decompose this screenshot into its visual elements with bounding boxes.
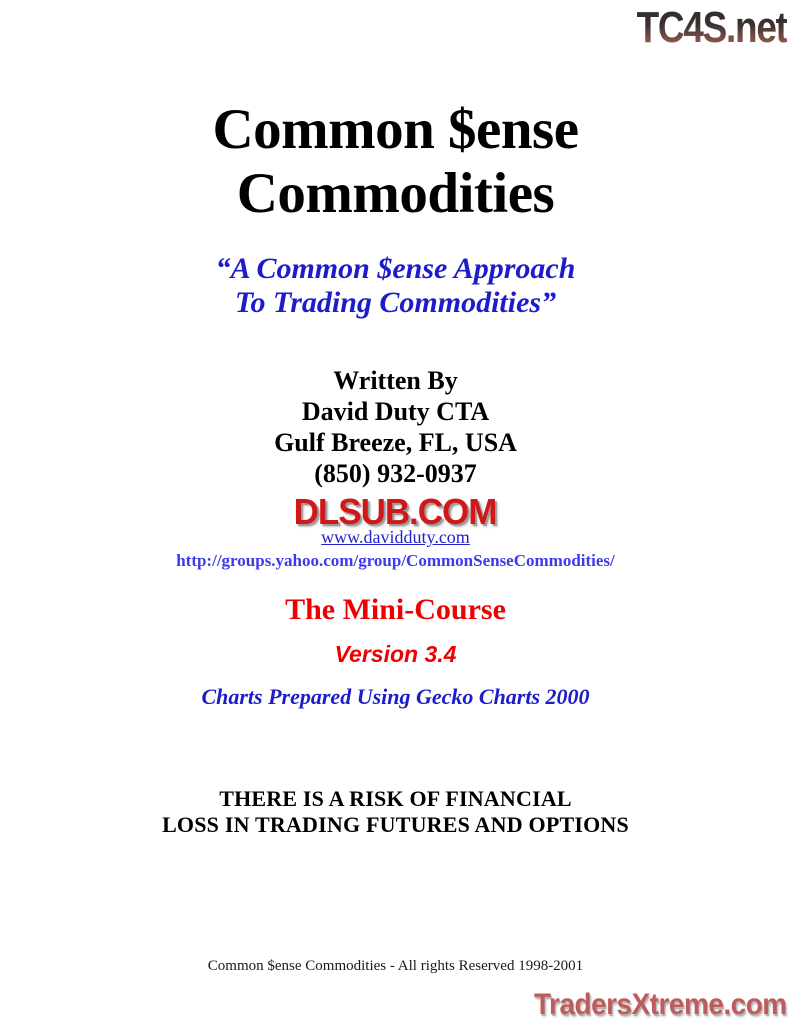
website-link[interactable]: www.davidduty.com [0,527,791,548]
page-title: Common $ense Commodities [0,98,791,226]
document-page: TC4S.net Common $ense Commodities “A Com… [0,0,791,1024]
yahoo-group-link[interactable]: http://groups.yahoo.com/group/CommonSens… [0,550,791,571]
footer-copyright: Common $ense Commodities - All rights Re… [0,957,791,975]
title-line-1: Common $ense [0,98,791,162]
tc4s-watermark: TC4S.net [637,4,787,52]
dlsub-watermark: DLSUB.COM [256,492,533,532]
risk-line-1: THERE IS A RISK OF FINANCIAL [0,786,791,812]
subtitle-line-1: “A Common $ense Approach [0,252,791,286]
version-label: Version 3.4 [0,641,791,668]
charts-credit-note: Charts Prepared Using Gecko Charts 2000 [0,684,791,710]
author-name: David Duty CTA [0,396,791,427]
title-line-2: Commodities [0,162,791,226]
tradersxtreme-watermark: TradersXtreme.com [534,988,787,1022]
subtitle-line-2: To Trading Commodities” [0,286,791,320]
subtitle: “A Common $ense Approach To Trading Comm… [0,252,791,320]
risk-line-2: LOSS IN TRADING FUTURES AND OPTIONS [0,812,791,838]
written-by-label: Written By [0,365,791,396]
author-block: Written By David Duty CTA Gulf Breeze, F… [0,365,791,489]
course-title: The Mini-Course [0,592,791,627]
author-location: Gulf Breeze, FL, USA [0,427,791,458]
author-phone: (850) 932-0937 [0,458,791,489]
risk-disclaimer: THERE IS A RISK OF FINANCIAL LOSS IN TRA… [0,786,791,838]
